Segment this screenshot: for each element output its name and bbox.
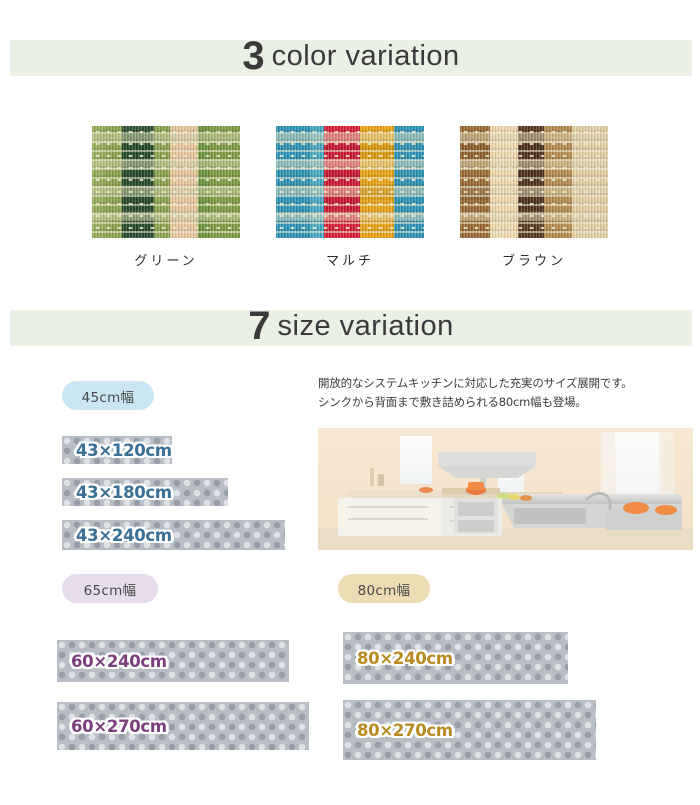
size-description-line2: シンクから背面まで敷き詰められる80cm幅も登場。 <box>318 393 693 412</box>
size-variation-title: size variation <box>278 310 454 342</box>
multi-swatch-image <box>276 126 424 238</box>
size-bar-80x240[interactable]: 80×240cm <box>343 632 568 684</box>
multi-swatch-label: マルチ <box>276 250 424 269</box>
color-variation-count: 3 <box>242 34 264 78</box>
size-bar-80x270-label: 80×270cm <box>357 721 453 740</box>
size-bar-60x240-label: 60×240cm <box>71 652 167 671</box>
size-group-badge-45: 45cm幅 <box>62 381 154 410</box>
size-description-line1: 開放的なシステムキッチンに対応した充実のサイズ展開です。 <box>318 374 693 393</box>
green-swatch-label: グリーン <box>92 250 240 269</box>
color-variation-header: 3color variation <box>10 40 692 76</box>
size-bar-60x270-label: 60×270cm <box>71 717 167 736</box>
size-variation-header: 7size variation <box>10 310 692 346</box>
size-bar-43x120-label: 43×120cm <box>76 441 172 460</box>
size-group-badge-80: 80cm幅 <box>338 574 430 603</box>
brown-knot-texture <box>460 126 608 238</box>
color-swatch-row: グリーン <box>0 126 700 276</box>
size-group-badge-65: 65cm幅 <box>62 574 158 603</box>
color-variation-heading: 3color variation <box>242 34 459 79</box>
size-bar-80x240-label: 80×240cm <box>357 649 453 668</box>
size-bar-43x180-label: 43×180cm <box>76 483 172 502</box>
size-bar-43x240[interactable]: 43×240cm <box>62 520 285 550</box>
size-variation-count: 7 <box>248 304 270 348</box>
brown-swatch-image <box>460 126 608 238</box>
size-bar-43x240-label: 43×240cm <box>76 526 172 545</box>
size-group-badge-65-label: 65cm幅 <box>84 579 137 599</box>
multi-knot-texture <box>276 126 424 238</box>
size-group-badge-45-label: 45cm幅 <box>82 386 135 406</box>
size-group-badge-80-label: 80cm幅 <box>358 579 411 599</box>
brown-swatch-label: ブラウン <box>460 250 608 269</box>
color-swatch-multi[interactable]: マルチ <box>276 126 424 269</box>
size-bar-80x270[interactable]: 80×270cm <box>343 700 596 760</box>
color-swatch-green[interactable]: グリーン <box>92 126 240 269</box>
size-bar-43x120[interactable]: 43×120cm <box>62 436 172 464</box>
size-bar-43x180[interactable]: 43×180cm <box>62 478 228 506</box>
color-variation-title: color variation <box>272 40 460 72</box>
size-description: 開放的なシステムキッチンに対応した充実のサイズ展開です。 シンクから背面まで敷き… <box>318 374 693 412</box>
size-bar-60x240[interactable]: 60×240cm <box>57 640 289 682</box>
kitchen-photo-graphic <box>318 428 693 550</box>
size-bar-60x270[interactable]: 60×270cm <box>57 702 309 750</box>
kitchen-photo <box>318 428 693 550</box>
green-swatch-image <box>92 126 240 238</box>
color-swatch-brown[interactable]: ブラウン <box>460 126 608 269</box>
size-variation-heading: 7size variation <box>248 304 454 349</box>
green-knot-texture <box>92 126 240 238</box>
